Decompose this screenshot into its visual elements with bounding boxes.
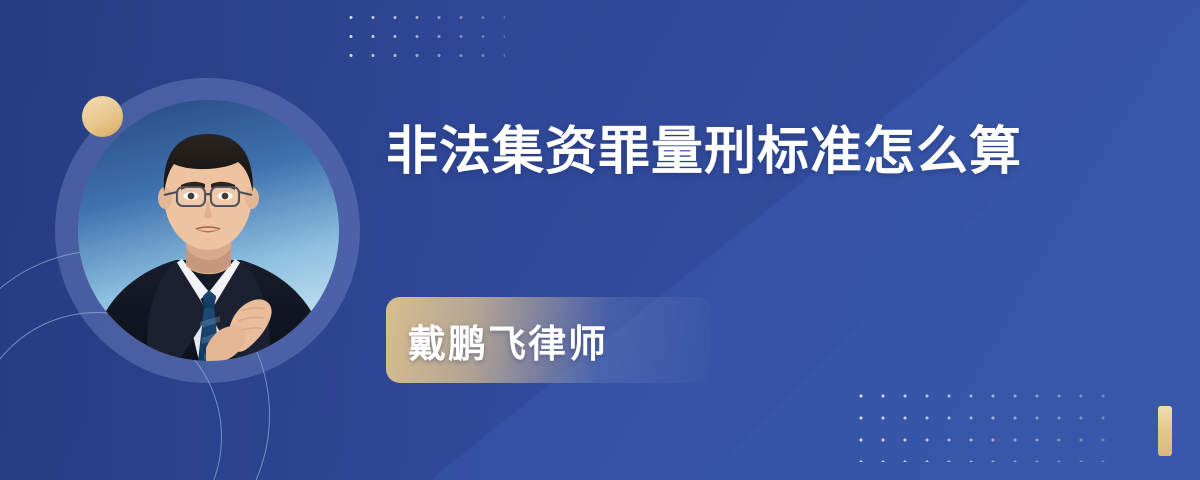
page-title: 非法集资罪量刑标准怎么算 (386, 120, 1066, 184)
dot-grid-top-icon (340, 8, 505, 66)
text-block: 非法集资罪量刑标准怎么算 (386, 120, 1086, 184)
author-name-label: 戴鹏飞律师 (386, 313, 608, 368)
dot-grid-bottom-icon (850, 385, 1120, 462)
lawyer-portrait-icon (78, 100, 339, 361)
gold-circle-icon (82, 96, 123, 137)
author-name-badge: 戴鹏飞律师 (386, 297, 711, 383)
promo-banner: 非法集资罪量刑标准怎么算 戴鹏飞律师 (0, 0, 1200, 480)
gold-bar-icon (1158, 406, 1172, 456)
avatar (78, 100, 339, 361)
